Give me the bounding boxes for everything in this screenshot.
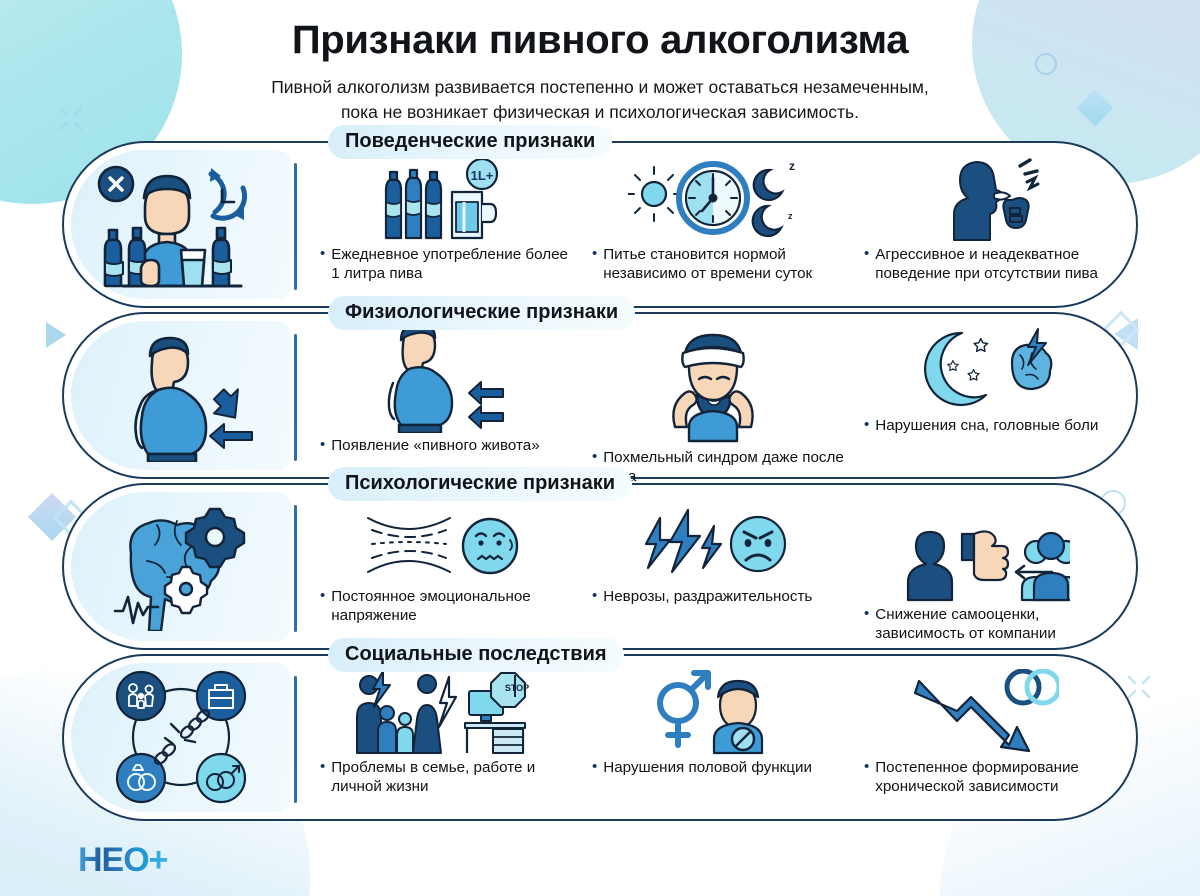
section-items: • Появление «пивного живота» [306, 324, 1122, 473]
bullet-icon: • [320, 436, 325, 455]
item-text: • Агрессивное и неадекватное поведение п… [856, 245, 1116, 284]
svg-text:z: z [788, 211, 793, 221]
gender-symbols-blocked-man-icon [584, 666, 844, 758]
sections-list: Поведенческие признаки [0, 141, 1200, 821]
section-illustration-panel [71, 663, 291, 812]
broken-chain-life-circles-icon [71, 663, 291, 812]
item-label: Нарушения сна, головные боли [875, 416, 1116, 435]
item-label: Питье становится нормой независимо от вр… [603, 245, 844, 284]
beer-belly-arrows-icon [312, 324, 572, 436]
page-title: Признаки пивного алкоголизма [0, 18, 1200, 63]
section-title-physiological: Физиологические признаки [328, 296, 635, 330]
list-item: • Похмельный синдром даже после пива [578, 324, 850, 473]
man-with-beer-bottles-icon [71, 150, 291, 299]
item-label: Постоянное эмоциональное напряжение [331, 587, 572, 626]
section-illustration-panel [71, 150, 291, 299]
item-text: • Появление «пивного живота» [312, 436, 572, 455]
moon-stars-brain-icon [856, 324, 1116, 416]
item-text: • Постоянное эмоциональное напряжение [312, 587, 572, 626]
section-title-psychological: Психологические признаки [328, 467, 632, 501]
item-label: Нарушения половой функции [603, 758, 844, 777]
item-text: • Ежедневное употребление более 1 литра … [312, 245, 572, 284]
item-text: • Питье становится нормой независимо от … [584, 245, 844, 284]
section-behavioral: Поведенческие признаки [62, 141, 1138, 308]
item-label: Появление «пивного живота» [331, 436, 572, 455]
item-label: Снижение самооценки, зависимость от комп… [875, 605, 1116, 644]
panel-divider [294, 676, 297, 803]
page-subtitle-line-2: пока не возникает физическая и психологи… [0, 100, 1200, 125]
list-item: • Нарушения сна, головные боли [850, 324, 1122, 473]
panel-divider [294, 334, 297, 461]
list-item: STOP • Проблемы в семье, работе и личной… [306, 666, 578, 815]
bullet-icon: • [592, 245, 597, 284]
item-text: • Неврозы, раздражительность [584, 587, 844, 606]
shouting-man-fist-icon [856, 153, 1116, 245]
thumbs-down-crowd-icon [856, 495, 1116, 605]
item-text: • Нарушения сна, головные боли [856, 416, 1116, 435]
page-subtitle-line-1: Пивной алкоголизм развивается постепенно… [0, 75, 1200, 100]
item-text: • Проблемы в семье, работе и личной жизн… [312, 758, 572, 797]
list-item: • Неврозы, раздражительность [578, 495, 850, 644]
item-label: Постепенное формирование хронической зав… [875, 758, 1116, 797]
list-item: 1L+ • Ежедневное употребление более 1 ли… [306, 153, 578, 302]
item-label: Ежедневное употребление более 1 литра пи… [331, 245, 572, 284]
bullet-icon: • [864, 416, 869, 435]
section-title-behavioral: Поведенческие признаки [328, 125, 612, 159]
list-item: z z • Питье становится нормой независимо… [578, 153, 850, 302]
lightning-angry-face-icon [584, 495, 844, 587]
list-item: • Агрессивное и неадекватное поведение п… [850, 153, 1122, 302]
section-items: 1L+ • Ежедневное употребление более 1 ли… [306, 153, 1122, 302]
bullet-icon: • [320, 758, 325, 797]
item-label: Похмельный синдром даже после пива [603, 448, 844, 487]
brand-logo: НЕО+ [78, 841, 168, 880]
item-label: Проблемы в семье, работе и личной жизни [331, 758, 572, 797]
bullet-icon: • [320, 587, 325, 626]
item-label: Агрессивное и неадекватное поведение при… [875, 245, 1116, 284]
panel-divider [294, 505, 297, 632]
svg-text:z: z [789, 159, 795, 173]
bullet-icon: • [320, 245, 325, 284]
section-items: STOP • Проблемы в семье, работе и личной… [306, 666, 1122, 815]
three-beer-bottles-and-mug-1L-icon: 1L+ [312, 153, 572, 245]
section-items: • Постоянное эмоциональное напряжение [306, 495, 1122, 644]
bullet-icon: • [864, 245, 869, 284]
list-item: • Снижение самооценки, зависимость от ко… [850, 495, 1122, 644]
item-text: • Снижение самооценки, зависимость от ко… [856, 605, 1116, 644]
section-physiological: Физиологические признаки [62, 312, 1138, 479]
item-label: Неврозы, раздражительность [603, 587, 844, 606]
list-item: • Постоянное эмоциональное напряжение [306, 495, 578, 644]
family-conflict-workplace-stop-icon: STOP [312, 666, 572, 758]
section-social: Социальные последствия [62, 654, 1138, 821]
man-with-beer-belly-icon [71, 321, 291, 470]
list-item: • Постепенное формирование хронической з… [850, 666, 1122, 815]
page-subtitle: Пивной алкоголизм развивается постепенно… [0, 75, 1200, 125]
bullet-icon: • [592, 587, 597, 606]
section-title-social: Социальные последствия [328, 638, 624, 672]
bullet-icon: • [864, 605, 869, 644]
section-illustration-panel [71, 492, 291, 641]
list-item: • Появление «пивного живота» [306, 324, 578, 473]
section-illustration-panel [71, 321, 291, 470]
declining-arrow-broken-rings-icon [856, 666, 1116, 758]
hangover-headache-man-icon [584, 324, 844, 448]
item-text: • Нарушения половой функции [584, 758, 844, 777]
page-header: Признаки пивного алкоголизма Пивной алко… [0, 0, 1200, 125]
bullet-icon: • [864, 758, 869, 797]
bullet-icon: • [592, 758, 597, 777]
tension-lines-worried-face-icon [312, 495, 572, 587]
stop-sign-label: STOP [505, 683, 529, 693]
section-psychological: Психологические признаки [62, 483, 1138, 650]
mug-badge-label: 1L+ [471, 168, 494, 183]
panel-divider [294, 163, 297, 290]
list-item: • Нарушения половой функции [578, 666, 850, 815]
brain-with-gears-icon [71, 492, 291, 641]
item-text: • Постепенное формирование хронической з… [856, 758, 1116, 797]
clock-sun-moon-icon: z z [584, 153, 844, 245]
